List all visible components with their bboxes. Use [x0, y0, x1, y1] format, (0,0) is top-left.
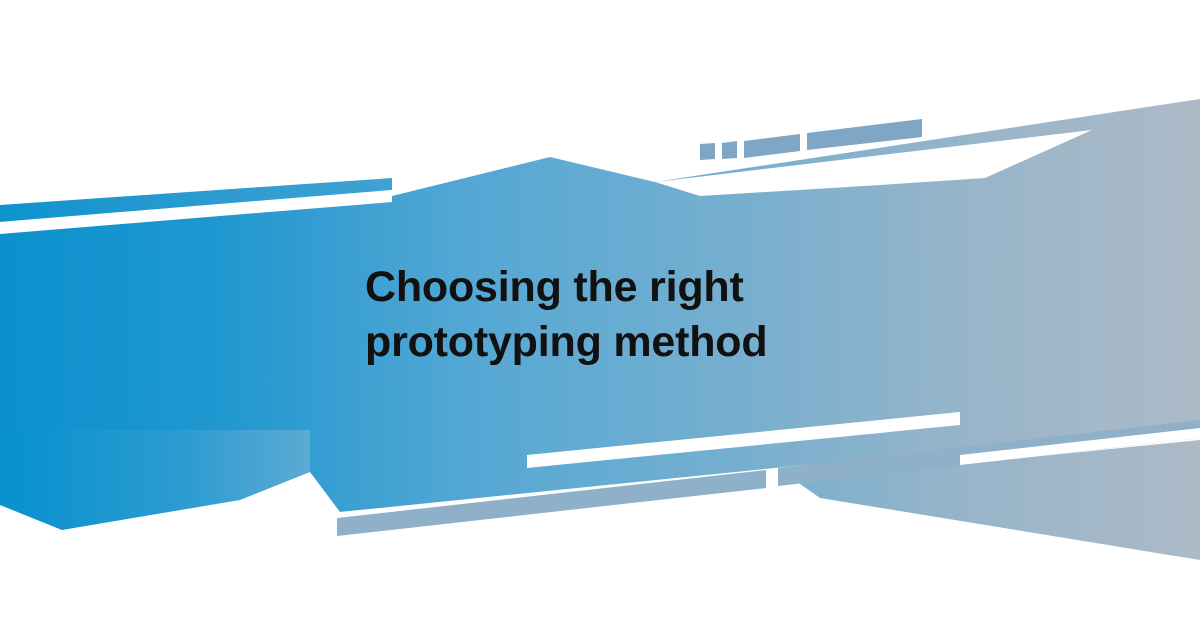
banner-card: Choosing the right prototyping method: [0, 0, 1200, 630]
bottom-left-wedge: [0, 430, 310, 530]
decorative-banner-graphic: [0, 0, 1200, 630]
